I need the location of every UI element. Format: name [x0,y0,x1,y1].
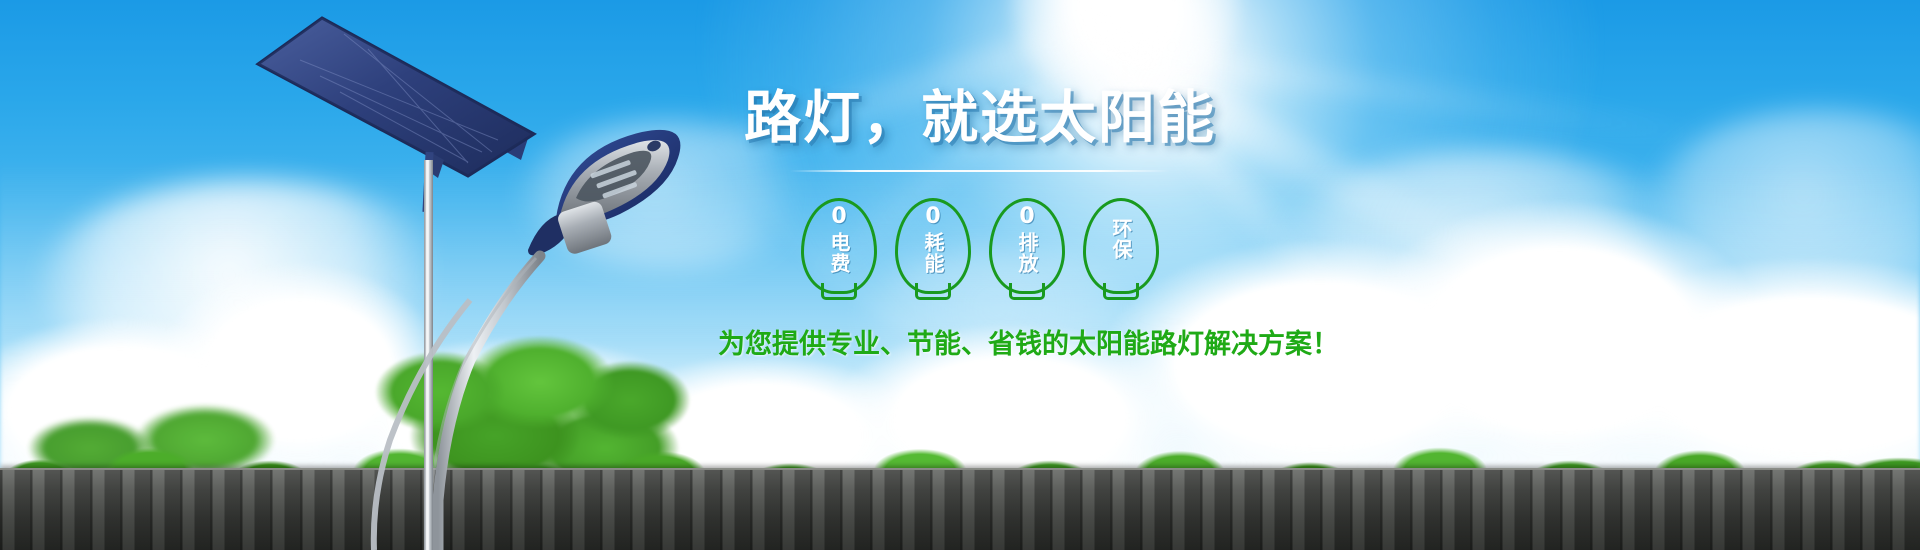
badge-item: 0 耗能 [895,198,971,294]
badge-number: 0 [1019,206,1034,228]
badge-label: 电费 [829,232,849,274]
badge-label: 耗能 [923,232,943,274]
badge-number: 0 [831,206,846,228]
tagline: 为您提供专业、节能、省钱的太阳能路灯解决方案！ [718,322,1198,361]
feature-badges: 0 电费 0 耗能 0 排放 [740,198,1220,294]
badge-item: 环保 [1083,198,1159,294]
badge-label: 环保 [1111,218,1131,260]
headline: 路灯，就选太阳能 [740,88,1220,150]
banner-content: 路灯，就选太阳能 0 电费 0 耗能 0 [740,88,1220,361]
badge-number: 0 [925,206,940,228]
divider [790,170,1170,172]
badge-item: 0 电费 [801,198,877,294]
badge-label: 排放 [1017,232,1037,274]
badge-item: 0 排放 [989,198,1065,294]
solar-street-light-banner: 路灯，就选太阳能 0 电费 0 耗能 0 [0,0,1920,550]
solar-panel-icon [256,18,534,180]
wall-tile-texture [0,470,1920,550]
